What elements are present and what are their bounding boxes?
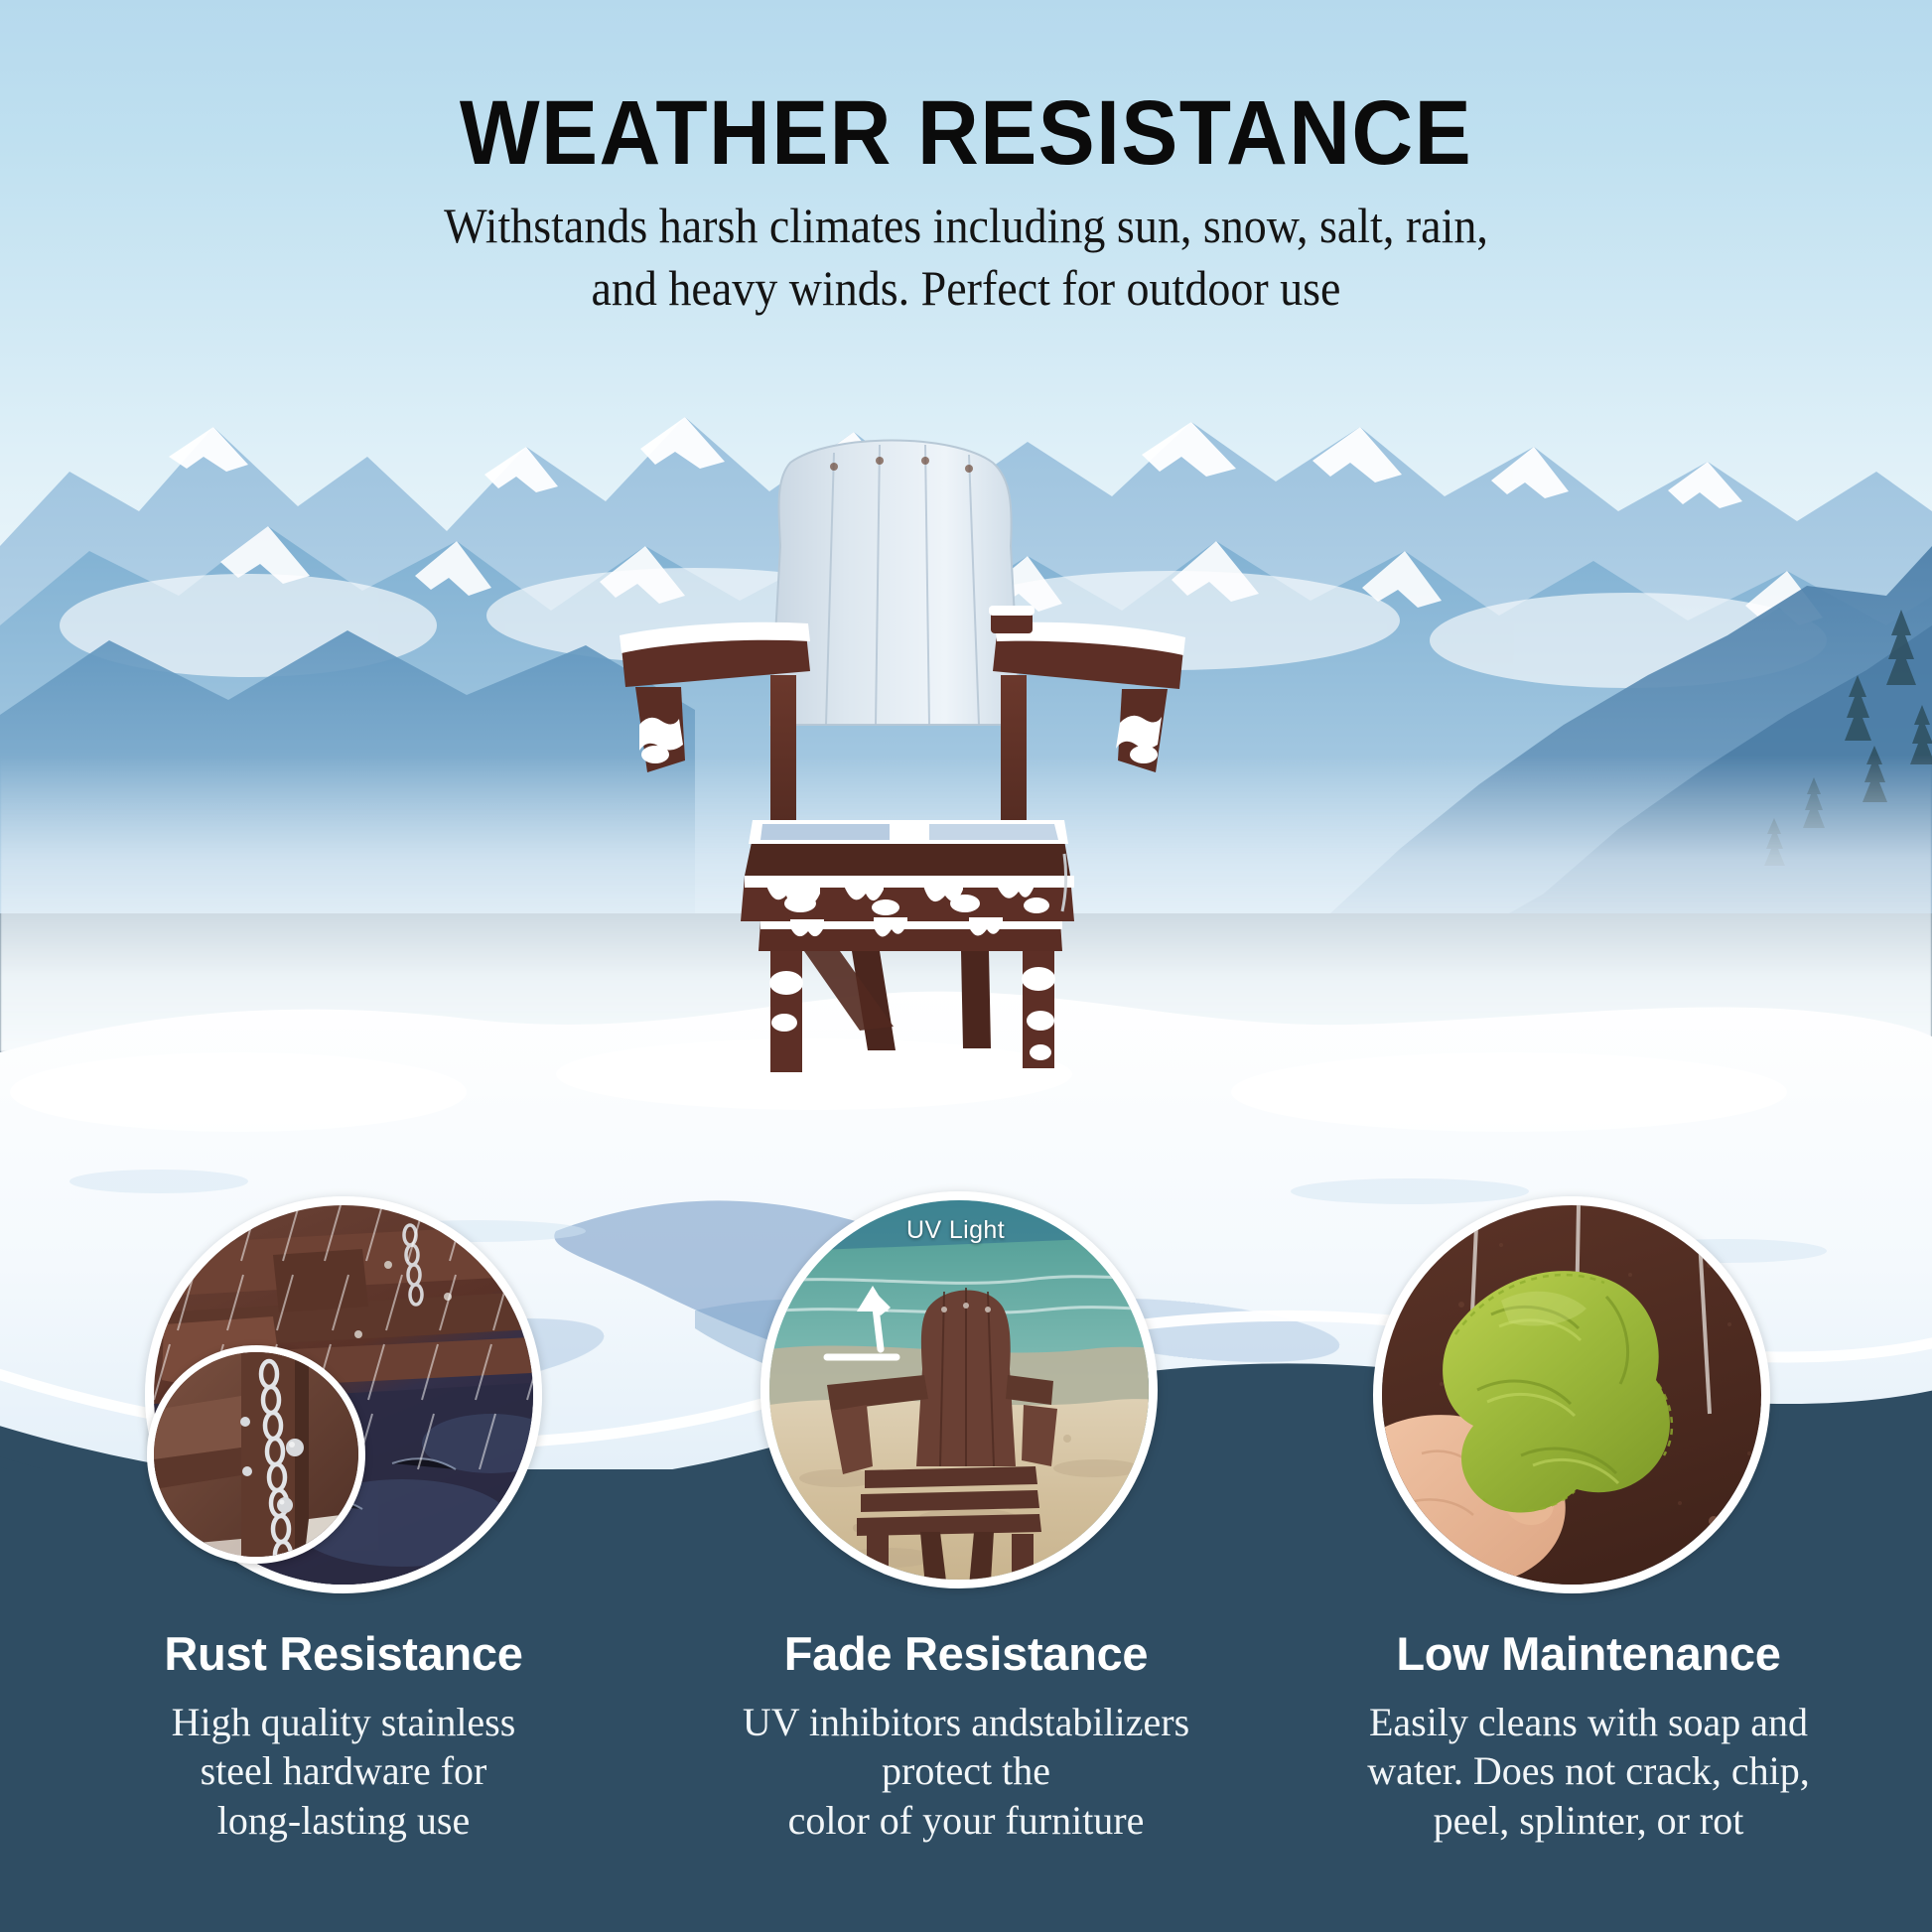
stainless-hardware-inset-photo — [147, 1345, 365, 1564]
low-maintenance-photo — [1373, 1196, 1770, 1593]
feature-block-low-maintenance: Low Maintenance Easily cleans with soap … — [1311, 1628, 1866, 1845]
feature-desc-line: protect the — [688, 1746, 1244, 1796]
feature-desc-line: High quality stainless — [66, 1698, 621, 1747]
page-subtitle: Withstands harsh climates including sun,… — [77, 195, 1855, 320]
feature-title-low-maintenance: Low Maintenance — [1311, 1628, 1866, 1680]
feature-title-fade-resistance: Fade Resistance — [688, 1628, 1244, 1680]
feature-title-rust-resistance: Rust Resistance — [66, 1628, 621, 1680]
subtitle-line-2: and heavy winds. Perfect for outdoor use — [77, 257, 1855, 320]
feature-desc-line: UV inhibitors andstabilizers — [688, 1698, 1244, 1747]
snow-covered-adirondack-chair — [596, 427, 1211, 1102]
feature-desc-line: water. Does not crack, chip, — [1311, 1746, 1866, 1796]
infographic-canvas: UV Light — [0, 0, 1932, 1932]
feature-desc-line: Easily cleans with soap and — [1311, 1698, 1866, 1747]
fade-resistance-photo — [760, 1191, 1158, 1588]
feature-desc-low-maintenance: Easily cleans with soap and water. Does … — [1311, 1698, 1866, 1846]
page-title: WEATHER RESISTANCE — [68, 87, 1864, 179]
feature-desc-fade-resistance: UV inhibitors andstabilizers protect the… — [688, 1698, 1244, 1846]
feature-desc-rust-resistance: High quality stainless steel hardware fo… — [66, 1698, 621, 1846]
subtitle-line-1: Withstands harsh climates including sun,… — [77, 195, 1855, 257]
feature-desc-line: steel hardware for — [66, 1746, 621, 1796]
feature-block-fade-resistance: Fade Resistance UV inhibitors andstabili… — [688, 1628, 1244, 1845]
feature-desc-line: peel, splinter, or rot — [1311, 1796, 1866, 1846]
uv-light-annotation: UV Light — [906, 1216, 1005, 1245]
feature-desc-line: long-lasting use — [66, 1796, 621, 1846]
feature-block-rust-resistance: Rust Resistance High quality stainless s… — [66, 1628, 621, 1845]
feature-desc-line: color of your furniture — [688, 1796, 1244, 1846]
